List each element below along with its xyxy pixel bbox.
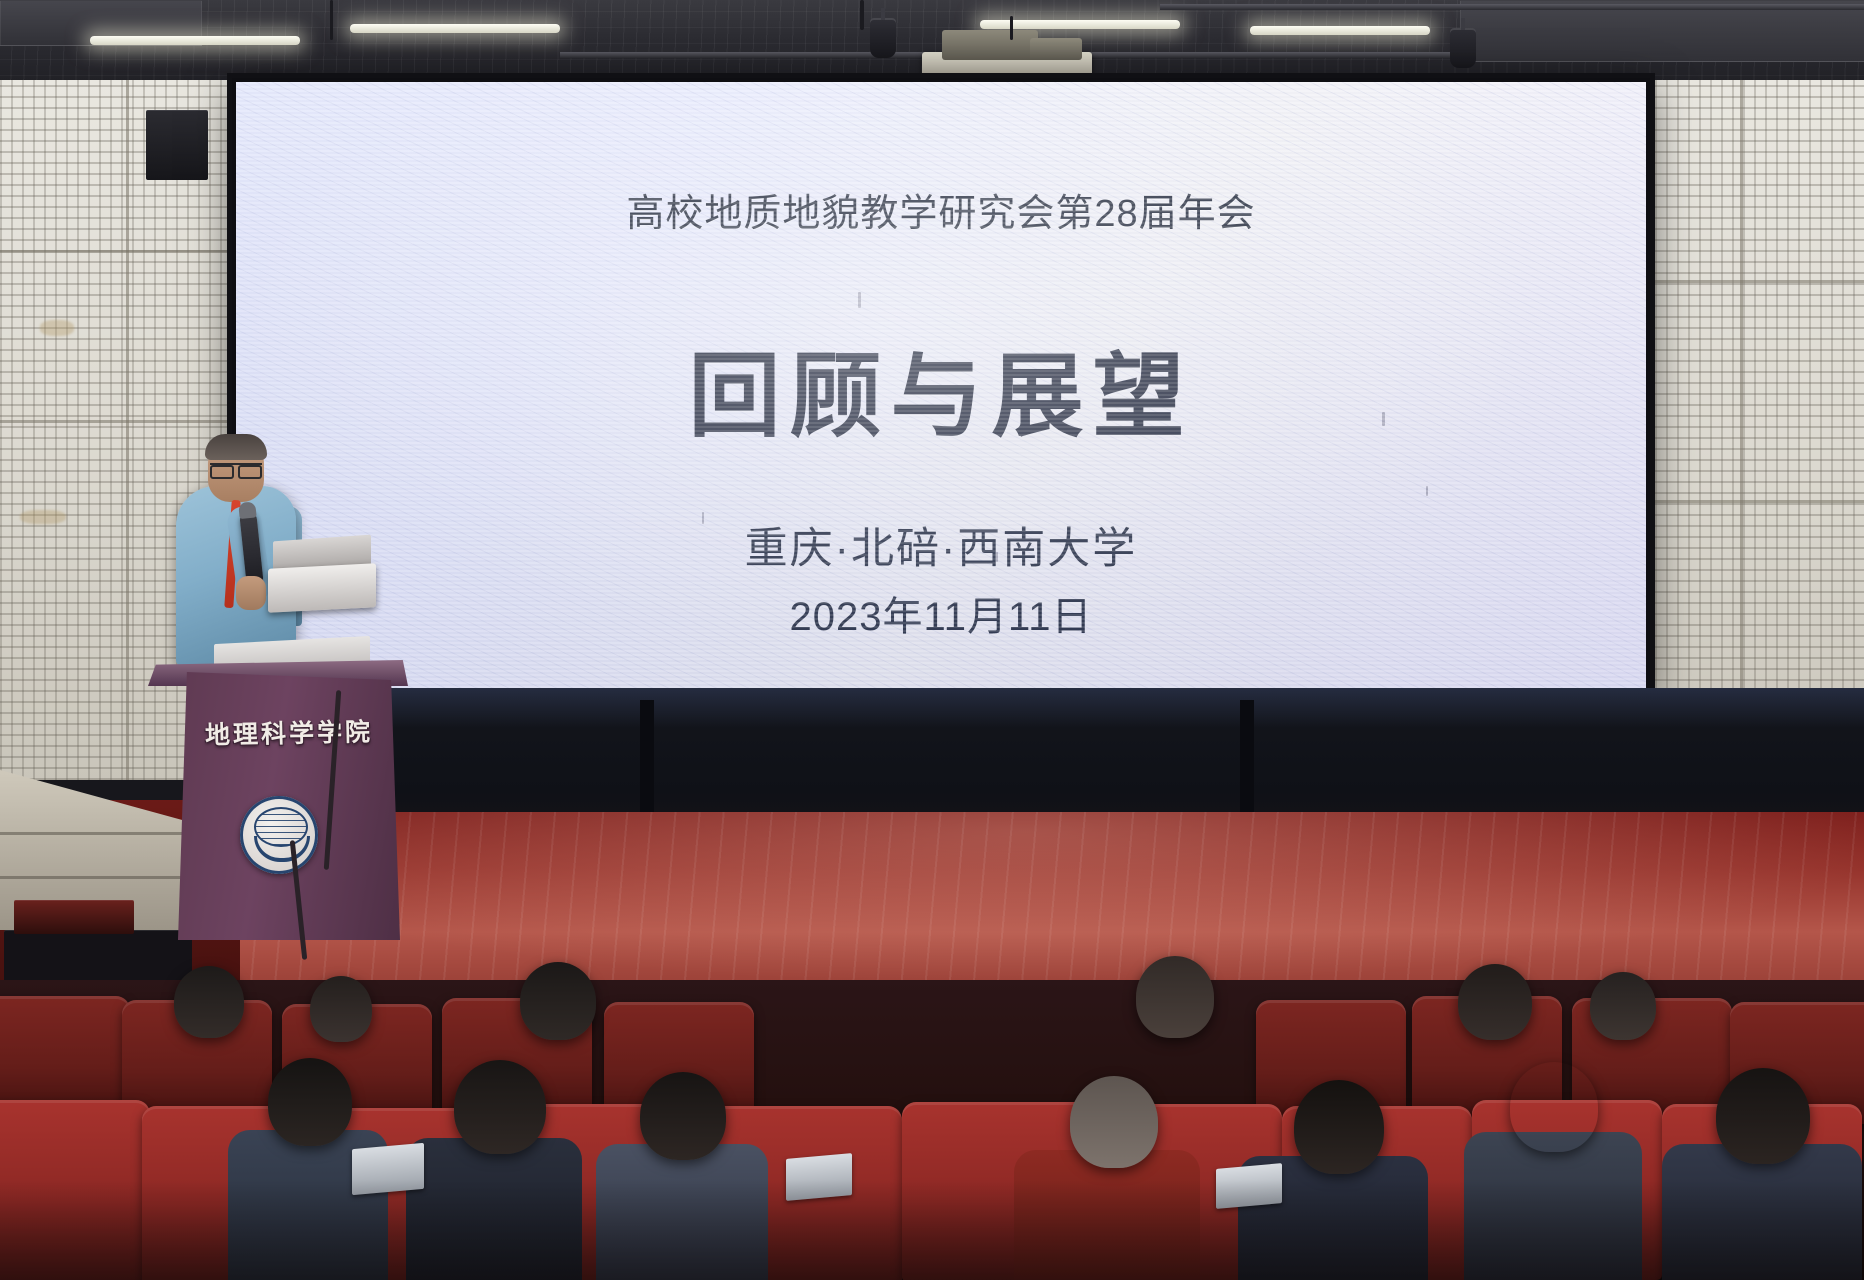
podium-sign-text: 地理科学学院 <box>178 712 401 753</box>
wall-speaker-box <box>146 110 208 180</box>
wall-seam <box>0 250 232 253</box>
truss-equipment-box <box>1030 38 1082 60</box>
ceiling-cable <box>860 0 864 30</box>
audience-head <box>310 976 372 1042</box>
microphone-head <box>238 501 257 519</box>
university-emblem <box>240 796 318 874</box>
audience-head <box>454 1060 546 1154</box>
speaker-hair <box>205 434 267 460</box>
audience-head <box>1458 964 1532 1040</box>
spotlight-left <box>870 18 896 58</box>
screen-support-leg <box>1240 700 1254 820</box>
presenter-laptop <box>268 563 376 613</box>
audience-head <box>1590 972 1656 1040</box>
truss-cable <box>1010 16 1013 40</box>
wall-seam <box>1740 80 1743 780</box>
acoustic-panel-texture <box>1644 80 1864 780</box>
audience-head <box>1510 1062 1598 1152</box>
stage-equipment-case <box>14 900 134 934</box>
wall-stain <box>20 510 66 524</box>
projection-screen-frame: 高校地质地貌教学研究会第28届年会 回顾与展望 重庆·北碚·西南大学 2023年… <box>232 78 1650 692</box>
presentation-slide: 高校地质地貌教学研究会第28届年会 回顾与展望 重庆·北碚·西南大学 2023年… <box>236 82 1646 688</box>
screen-support-leg <box>640 700 654 820</box>
step-edge <box>0 876 210 879</box>
slide-venue: 重庆·北碚·西南大学 <box>236 514 1646 576</box>
speaker-hand <box>236 576 266 610</box>
spotlight-right <box>1450 28 1476 68</box>
audience-head <box>1070 1076 1158 1168</box>
ceiling-light-strip <box>350 24 560 33</box>
right-acoustic-wall <box>1644 80 1864 780</box>
emblem-arc-icon <box>254 836 310 862</box>
wall-seam <box>0 420 232 423</box>
audience-head <box>1136 956 1214 1038</box>
screen-base-sheen <box>220 688 1864 728</box>
audience-head <box>174 966 244 1038</box>
slide-date: 2023年11月11日 <box>236 584 1646 642</box>
step-edge <box>0 832 210 835</box>
wall-stain <box>40 320 74 336</box>
truss-equipment-box <box>942 30 1038 60</box>
projection-screen: 高校地质地貌教学研究会第28届年会 回顾与展望 重庆·北碚·西南大学 2023年… <box>236 82 1646 688</box>
audience-head <box>268 1058 352 1146</box>
ceiling-rail <box>1160 4 1864 10</box>
ceiling-light-strip <box>90 36 300 45</box>
seat <box>0 996 130 1116</box>
ceiling-cable <box>330 0 333 40</box>
ceiling-light-strip <box>1250 26 1430 35</box>
foreground-shadow <box>0 1180 1864 1280</box>
audience-head <box>640 1072 726 1160</box>
wall-seam <box>126 80 129 780</box>
slide-heading: 高校地质地貌教学研究会第28届年会 <box>236 182 1646 237</box>
speaker-glasses <box>210 463 262 475</box>
wall-seam <box>1644 280 1864 283</box>
slide-title: 回顾与展望 <box>236 322 1646 455</box>
audience-head <box>1294 1080 1384 1174</box>
audience-head <box>1716 1068 1810 1164</box>
wall-seam <box>1644 500 1864 503</box>
auditorium-scene: 高校地质地貌教学研究会第28届年会 回顾与展望 重庆·北碚·西南大学 2023年… <box>0 0 1864 1280</box>
audience-head <box>520 962 596 1040</box>
